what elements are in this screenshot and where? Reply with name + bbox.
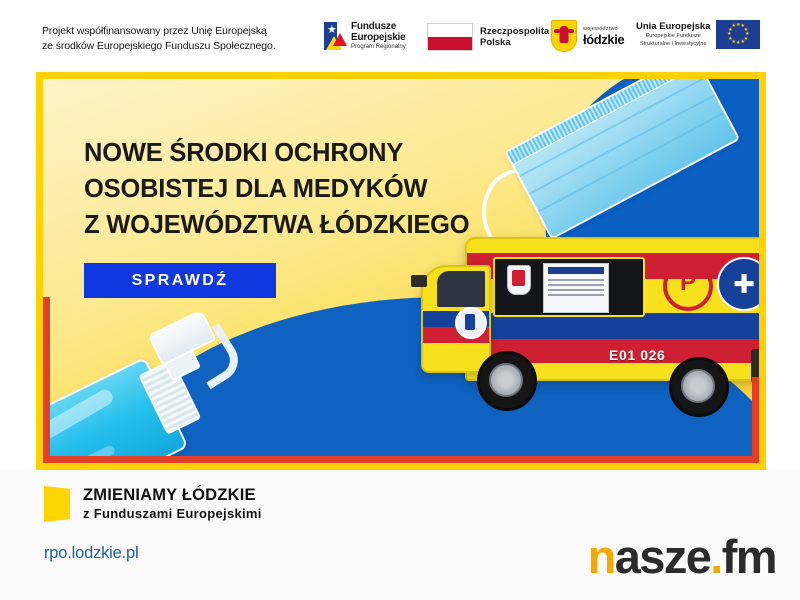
fundusze-line-1: Fundusze bbox=[351, 21, 406, 32]
unia-line-1: Unia Europejska bbox=[636, 21, 710, 32]
lodzkie-line-2: łódzkie bbox=[583, 33, 624, 47]
unia-europejska-logo: Unia Europejska Europejskie Fundusze Str… bbox=[636, 20, 760, 49]
footer-bar: ZMIENIAMY ŁÓDZKIE z Funduszami Europejsk… bbox=[0, 470, 800, 600]
zmieniamy-lodzkie-wordmark: ZMIENIAMY ŁÓDZKIE z Funduszami Europejsk… bbox=[83, 486, 262, 522]
unia-line-3: Strukturalne i Inwestycyjne bbox=[636, 40, 710, 48]
lodzkie-wordmark: województwo łódzkie bbox=[583, 25, 624, 47]
ambulance-side-window bbox=[493, 257, 645, 317]
eu-flag-icon: ★★★★★★★★★★★★ bbox=[716, 20, 760, 49]
headline-line-1: NOWE ŚRODKI OCHRONY bbox=[84, 135, 514, 171]
rzeczpospolita-polska-logo: Rzeczpospolita Polska bbox=[427, 23, 549, 51]
fundusze-line-3: Program Regionalny bbox=[351, 43, 406, 52]
headline-line-2: OSOBISTEJ DLA MEDYKÓW bbox=[84, 171, 514, 207]
ambulance-crest-sticker-icon bbox=[507, 265, 531, 295]
naszefm-part-3: fm bbox=[722, 530, 776, 583]
hand-sanitizer-bottle-image bbox=[36, 300, 278, 470]
fundusze-line-2: Europejskie bbox=[351, 32, 406, 43]
poland-flag-icon bbox=[427, 23, 473, 51]
ambulance-vehicle-code: E01 026 bbox=[609, 347, 665, 363]
ambulance-side-mirror bbox=[411, 275, 427, 287]
banner-red-accent-left bbox=[43, 297, 50, 470]
ambulance-windshield bbox=[437, 271, 485, 307]
promo-banner[interactable]: P ✚ E01 026 NOWE ŚRODKI OCHRONY bbox=[36, 72, 766, 470]
naszefm-dot: . bbox=[710, 530, 721, 583]
funding-statement-line-2: ze środków Europejskiego Funduszu Społec… bbox=[42, 39, 314, 54]
funding-statement-line-1: Projekt współfinansowany przez Unię Euro… bbox=[42, 24, 314, 39]
ambulance-door-badge-icon bbox=[455, 307, 487, 339]
zmieniamy-lodzkie-lockup: ZMIENIAMY ŁÓDZKIE z Funduszami Europejsk… bbox=[44, 486, 262, 522]
eu-funding-bar: Projekt współfinansowany przez Unię Euro… bbox=[0, 0, 800, 70]
ambulance-image: P ✚ E01 026 bbox=[421, 219, 766, 441]
nasze-fm-logo[interactable]: nasze.fm bbox=[588, 532, 776, 582]
wojewodztwo-lodzkie-logo: województwo łódzkie bbox=[551, 20, 624, 52]
ambulance-rear-wheel bbox=[669, 357, 729, 417]
naszefm-part-1: n bbox=[588, 530, 615, 583]
poland-wordmark: Rzeczpospolita Polska bbox=[480, 26, 549, 48]
polska-line-2: Polska bbox=[480, 37, 549, 48]
sprawdz-cta-button[interactable]: SPRAWDŹ bbox=[84, 263, 276, 298]
brand-line-1: ZMIENIAMY ŁÓDZKIE bbox=[83, 486, 262, 505]
fundusze-europejskie-mark-icon: ★ bbox=[324, 22, 346, 50]
brand-line-2: z Funduszami Europejskimi bbox=[83, 505, 262, 522]
naszefm-part-2: asze bbox=[615, 530, 711, 583]
funding-statement: Projekt współfinansowany przez Unię Euro… bbox=[42, 24, 314, 54]
banner-red-accent-bottom bbox=[43, 456, 766, 463]
mask-body bbox=[504, 72, 740, 240]
polska-line-1: Rzeczpospolita bbox=[480, 26, 549, 37]
ambulance-p-symbol-icon: P bbox=[663, 261, 713, 311]
ambulance-eu-funding-placard bbox=[543, 263, 609, 313]
unia-line-2: Europejskie Fundusze bbox=[636, 32, 710, 40]
yellow-flag-icon bbox=[44, 486, 70, 522]
site-url-link[interactable]: rpo.lodzkie.pl bbox=[44, 544, 138, 563]
lodzkie-coat-of-arms-icon bbox=[551, 20, 577, 52]
fundusze-europejskie-logo: ★ Fundusze Europejskie Program Regionaln… bbox=[324, 21, 406, 51]
ambulance-front-wheel bbox=[477, 351, 537, 411]
banner-headline: NOWE ŚRODKI OCHRONY OSOBISTEJ DLA MEDYKÓ… bbox=[84, 135, 514, 243]
ambulance-star-of-life-icon: ✚ bbox=[717, 257, 766, 311]
fundusze-europejskie-wordmark: Fundusze Europejskie Program Regionalny bbox=[351, 21, 406, 52]
headline-line-3: Z WOJEWÓDZTWA ŁÓDZKIEGO bbox=[84, 207, 514, 243]
banner-red-accent-right bbox=[752, 377, 759, 463]
unia-europejska-wordmark: Unia Europejska Europejskie Fundusze Str… bbox=[636, 21, 710, 48]
